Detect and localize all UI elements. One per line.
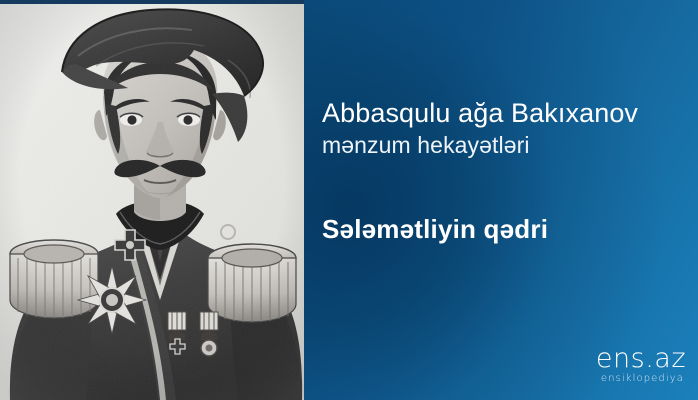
headline-author: Abbasqulu ağa Bakıxanov	[322, 96, 694, 130]
logo-tagline: ensiklopediya	[596, 374, 684, 384]
ens-az-logo[interactable]: ens.az ensiklopediya	[596, 345, 686, 384]
headline-collection: mənzum hekayətləri	[322, 130, 694, 161]
page-title: Sələmətliyin qədri	[322, 212, 694, 246]
portrait-image	[0, 0, 304, 400]
portrait-panel	[0, 0, 304, 400]
ens-az-article-banner: Abbasqulu ağa Bakıxanov mənzum hekayətlə…	[0, 0, 698, 400]
headline-block: Abbasqulu ağa Bakıxanov mənzum hekayətlə…	[322, 96, 694, 161]
text-panel: Abbasqulu ağa Bakıxanov mənzum hekayətlə…	[304, 0, 698, 400]
logo-wordmark: ens.az	[596, 345, 686, 372]
portrait-top-strip	[0, 0, 304, 4]
